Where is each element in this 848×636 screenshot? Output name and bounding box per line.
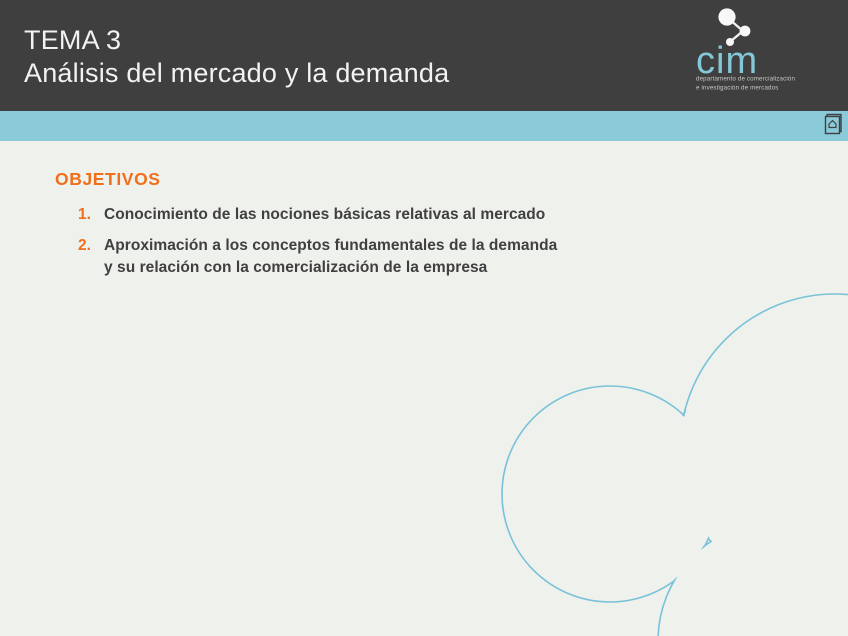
list-item-line1: Aproximación a los conceptos fundamental… — [104, 237, 557, 254]
cim-logo: cim departamento de comercialización e i… — [694, 6, 842, 105]
list-item-number: 1. — [78, 204, 104, 226]
slide-canvas: TEMA 3 Análisis del mercado y la demanda… — [0, 0, 848, 636]
slide-header: TEMA 3 Análisis del mercado y la demanda… — [0, 0, 848, 111]
cim-subtitle-line1: departamento de comercialización — [696, 75, 842, 83]
objectives-list: 1. Conocimiento de las nociones básicas … — [78, 204, 758, 288]
page-home-icon[interactable] — [824, 113, 844, 135]
list-item: 1. Conocimiento de las nociones básicas … — [78, 204, 758, 226]
title-line-topic: TEMA 3 — [24, 24, 644, 57]
title-line-subject: Análisis del mercado y la demanda — [24, 57, 644, 90]
list-item-text: Conocimiento de las nociones básicas rel… — [104, 204, 758, 226]
slide-body: OBJETIVOS 1. Conocimiento de las nocione… — [0, 141, 848, 636]
accent-divider-bar — [0, 111, 848, 141]
list-item-number: 2. — [78, 235, 104, 257]
list-item: 2. Aproximación a los conceptos fundamen… — [78, 235, 758, 279]
list-item-line2: y su relación con la comercialización de… — [104, 257, 758, 279]
cim-subtitle-line2: e investigación de mercados — [696, 84, 842, 92]
section-heading-objetivos: OBJETIVOS — [55, 169, 161, 190]
list-item-text: Aproximación a los conceptos fundamental… — [104, 235, 758, 279]
list-item-line1: Conocimiento de las nociones básicas rel… — [104, 206, 545, 223]
page-title: TEMA 3 Análisis del mercado y la demanda — [24, 24, 644, 90]
